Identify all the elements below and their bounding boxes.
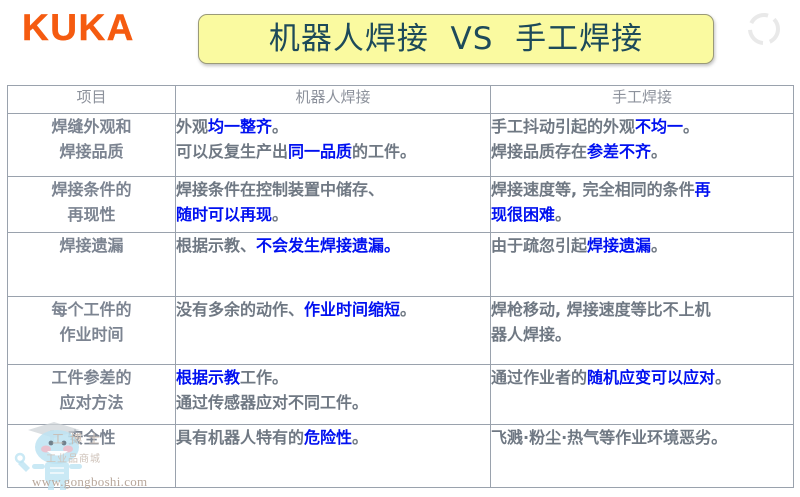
plain-text: 通过作业者的 (491, 368, 587, 387)
row-label-line: 安全性 (8, 425, 175, 450)
plain-text: 。 (651, 142, 667, 161)
cell-text-line: 根据示教、不会发生焊接遗漏。 (176, 233, 490, 258)
plain-text: 外观 (176, 117, 208, 136)
table-body: 焊缝外观和焊接品质外观均一整齐。可以反复生产出同一品质的工件。手工抖动引起的外观… (8, 114, 794, 488)
row-label-line: 焊缝外观和 (8, 114, 175, 139)
page-title: 机器人焊接 VS 手工焊接 (199, 15, 713, 65)
highlighted-text: 现很困难 (491, 205, 555, 224)
highlighted-text: 焊接遗漏 (587, 236, 651, 255)
plain-text: 焊接品质存在 (491, 142, 587, 161)
cell-text-line: 现很困难。 (491, 202, 793, 227)
row-label-line: 焊接遗漏 (8, 233, 175, 258)
cell-text-line: 焊接条件在控制装置中储存、 (176, 177, 490, 202)
row-label-cell: 焊接遗漏 (8, 233, 176, 297)
column-header-item: 项目 (8, 86, 176, 114)
row-label-line: 焊接条件的 (8, 177, 175, 202)
highlighted-text: 均一整齐 (208, 117, 272, 136)
row-label-cell: 焊接条件的再现性 (8, 177, 176, 233)
row-label-cell: 工件参差的应对方法 (8, 365, 176, 425)
plain-text: 根据示教、 (176, 236, 256, 255)
row-label-line: 应对方法 (8, 390, 175, 415)
plain-text: 。 (555, 205, 571, 224)
cell-text-line: 焊枪移动, 焊接速度等比不上机 (491, 297, 793, 322)
table-row: 每个工件的作业时间没有多余的动作、作业时间缩短。焊枪移动, 焊接速度等比不上机器… (8, 297, 794, 365)
robot-welding-cell: 焊接条件在控制装置中储存、随时可以再现。 (176, 177, 491, 233)
comparison-table: 项目 机器人焊接 手工焊接 焊缝外观和焊接品质外观均一整齐。可以反复生产出同一品… (7, 85, 794, 488)
manual-welding-cell: 手工抖动引起的外观不均一。焊接品质存在参差不齐。 (491, 114, 794, 177)
highlighted-text: 不均一 (635, 117, 683, 136)
plain-text: 。 (272, 117, 288, 136)
highlighted-text: 作业时间缩短 (304, 300, 400, 319)
page-header: KUKA 机器人焊接 VS 手工焊接 (0, 0, 800, 84)
highlighted-text: 不会发生焊接遗漏。 (256, 236, 400, 255)
manual-welding-cell: 焊接速度等, 完全相同的条件再现很困难。 (491, 177, 794, 233)
plain-text: 可以反复生产出 (176, 142, 288, 161)
cell-text-line: 具有机器人特有的危险性。 (176, 425, 490, 450)
cell-text-line: 由于疏忽引起焊接遗漏。 (491, 233, 793, 258)
plain-text: 。 (651, 236, 667, 255)
table-row: 焊接遗漏根据示教、不会发生焊接遗漏。由于疏忽引起焊接遗漏。 (8, 233, 794, 297)
manual-welding-cell: 通过作业者的随机应变可以应对。 (491, 365, 794, 425)
plain-text: 。 (272, 205, 288, 224)
row-label-cell: 每个工件的作业时间 (8, 297, 176, 365)
highlighted-text: 随机应变可以应对 (587, 368, 715, 387)
highlighted-text: 随时可以再现 (176, 205, 272, 224)
plain-text: 焊枪移动, 焊接速度等比不上机 (491, 300, 711, 319)
plain-text: 工作。 (240, 368, 288, 387)
robot-welding-cell: 根据示教工作。通过传感器应对不同工件。 (176, 365, 491, 425)
column-header-robot: 机器人焊接 (176, 86, 491, 114)
robot-welding-cell: 外观均一整齐。可以反复生产出同一品质的工件。 (176, 114, 491, 177)
plain-text: 焊接速度等, 完全相同的条件 (491, 180, 695, 199)
row-label-cell: 焊缝外观和焊接品质 (8, 114, 176, 177)
table-row: 焊接条件的再现性焊接条件在控制装置中储存、随时可以再现。焊接速度等, 完全相同的… (8, 177, 794, 233)
table-row: 工件参差的应对方法根据示教工作。通过传感器应对不同工件。通过作业者的随机应变可以… (8, 365, 794, 425)
plain-text: 。 (715, 368, 731, 387)
highlighted-text: 参差不齐 (587, 142, 651, 161)
highlighted-text: 根据示教 (176, 368, 240, 387)
row-label-cell: 安全性 (8, 425, 176, 488)
highlighted-text: 同一品质 (288, 142, 352, 161)
row-label-line: 焊接品质 (8, 139, 175, 164)
table-header-row: 项目 机器人焊接 手工焊接 (8, 86, 794, 114)
robot-welding-cell: 没有多余的动作、作业时间缩短。 (176, 297, 491, 365)
cell-text-line: 焊接速度等, 完全相同的条件再 (491, 177, 793, 202)
cell-text-line: 器人焊接。 (491, 322, 793, 347)
plain-text: 没有多余的动作、 (176, 300, 304, 319)
cell-text-line: 没有多余的动作、作业时间缩短。 (176, 297, 490, 322)
plain-text: 焊接条件在控制装置中储存、 (176, 180, 384, 199)
loading-ring-icon (746, 11, 782, 47)
highlighted-text: 危险性 (304, 428, 352, 447)
row-label-line: 再现性 (8, 202, 175, 227)
plain-text: 具有机器人特有的 (176, 428, 304, 447)
manual-welding-cell: 飞溅·粉尘·热气等作业环境恶劣。 (491, 425, 794, 488)
plain-text: 手工抖动引起的外观 (491, 117, 635, 136)
cell-text-line: 焊接品质存在参差不齐。 (491, 139, 793, 164)
kuka-logo: KUKA (22, 8, 135, 48)
plain-text: 。 (400, 300, 416, 319)
cell-text-line: 根据示教工作。 (176, 365, 490, 390)
cell-text-line: 随时可以再现。 (176, 202, 490, 227)
cell-text-line: 飞溅·粉尘·热气等作业环境恶劣。 (491, 425, 793, 450)
row-label-line: 作业时间 (8, 322, 175, 347)
row-label-line: 工件参差的 (8, 365, 175, 390)
plain-text: 由于疏忽引起 (491, 236, 587, 255)
cell-text-line: 外观均一整齐。 (176, 114, 490, 139)
title-banner: 机器人焊接 VS 手工焊接 (198, 14, 714, 64)
robot-welding-cell: 根据示教、不会发生焊接遗漏。 (176, 233, 491, 297)
manual-welding-cell: 焊枪移动, 焊接速度等比不上机器人焊接。 (491, 297, 794, 365)
robot-welding-cell: 具有机器人特有的危险性。 (176, 425, 491, 488)
table-row: 焊缝外观和焊接品质外观均一整齐。可以反复生产出同一品质的工件。手工抖动引起的外观… (8, 114, 794, 177)
cell-text-line: 通过传感器应对不同工件。 (176, 390, 490, 415)
cell-text-line: 可以反复生产出同一品质的工件。 (176, 139, 490, 164)
manual-welding-cell: 由于疏忽引起焊接遗漏。 (491, 233, 794, 297)
row-label-line: 每个工件的 (8, 297, 175, 322)
cell-text-line: 手工抖动引起的外观不均一。 (491, 114, 793, 139)
plain-text: 飞溅·粉尘·热气等作业环境恶劣。 (491, 428, 727, 447)
cell-text-line: 通过作业者的随机应变可以应对。 (491, 365, 793, 390)
plain-text: 的工件。 (352, 142, 416, 161)
highlighted-text: 再 (695, 180, 711, 199)
plain-text: 器人焊接。 (491, 325, 571, 344)
plain-text: 通过传感器应对不同工件。 (176, 393, 368, 412)
column-header-manual: 手工焊接 (491, 86, 794, 114)
table-row: 安全性具有机器人特有的危险性。飞溅·粉尘·热气等作业环境恶劣。 (8, 425, 794, 488)
plain-text: 。 (683, 117, 699, 136)
plain-text: 。 (352, 428, 368, 447)
